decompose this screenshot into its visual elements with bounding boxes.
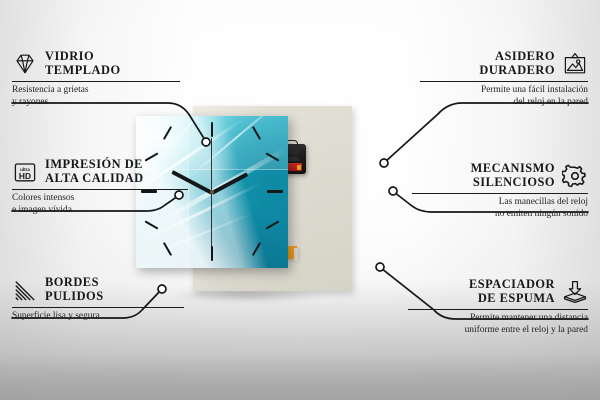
feature-title-line2: ALTA CALIDAD — [45, 172, 144, 186]
background-floor-edge — [0, 354, 600, 400]
mechanism-detail — [289, 149, 299, 154]
feature-desc-line1: Permite mantener una distancia — [408, 313, 588, 324]
feature-divider — [420, 81, 588, 82]
feature-title-line2: TEMPLADO — [45, 64, 121, 78]
infographic-canvas: VIDRIO TEMPLADO Resistencia a grietas y … — [0, 0, 600, 400]
feature-desc-line1: Las manecillas del reloj — [412, 197, 588, 208]
feature-title-line2: SILENCIOSO — [471, 176, 555, 190]
feature-divider — [412, 193, 588, 194]
feature-vidrio-templado[interactable]: VIDRIO TEMPLADO Resistencia a grietas y … — [12, 50, 180, 108]
feature-title-line1: ASIDERO — [479, 50, 555, 64]
feature-desc-line2: no emiten ningún sonido — [412, 209, 588, 220]
clock-second-hand — [211, 192, 212, 248]
feature-divider — [12, 189, 188, 190]
feature-asidero-duradero[interactable]: ASIDERO DURADERO Permite una fácil insta… — [420, 50, 588, 108]
feature-impresion-alta-calidad[interactable]: ultra HD IMPRESIÓN DE ALTA CALIDAD Color… — [12, 158, 188, 216]
feature-mecanismo-silencioso[interactable]: MECANISMO SILENCIOSO Las manecillas del … — [412, 162, 588, 220]
ultra-hd-icon-main-label: HD — [19, 170, 31, 180]
feature-desc-line1: Resistencia a grietas — [12, 85, 180, 96]
feature-desc-line1: Colores intensos — [12, 193, 188, 204]
feature-divider — [408, 309, 588, 310]
polished-edges-icon — [12, 278, 38, 302]
feature-bordes-pulidos[interactable]: BORDES PULIDOS Superficie lisa y segura — [12, 276, 184, 323]
feature-title-line2: PULIDOS — [45, 290, 104, 304]
feature-divider — [12, 307, 184, 308]
foam-spacer-arrow-icon — [562, 280, 588, 304]
feature-title-line1: ESPACIADOR — [469, 278, 555, 292]
feature-desc-line1: Permite una fácil instalación — [420, 85, 588, 96]
wall-hanging-frame-icon — [562, 52, 588, 76]
feature-desc-line2: del reloj en la pared — [420, 97, 588, 108]
feature-desc-line2: y rayones — [12, 97, 180, 108]
clock-tick — [211, 122, 213, 137]
feature-title-line1: IMPRESIÓN DE — [45, 158, 144, 172]
clock-second-hand — [211, 138, 212, 192]
feature-title-line2: DE ESPUMA — [469, 292, 555, 306]
feature-divider — [12, 81, 180, 82]
gear-icon — [562, 164, 588, 188]
feature-title-line1: MECANISMO — [471, 162, 555, 176]
clock-tick — [267, 190, 283, 193]
feature-desc-line2: e imagen vívida — [12, 205, 188, 216]
ultra-hd-icon: ultra HD — [12, 160, 38, 184]
feature-title-line1: BORDES — [45, 276, 104, 290]
mechanism-detail — [287, 157, 299, 161]
diamond-icon — [12, 52, 38, 76]
feature-title-line1: VIDRIO — [45, 50, 121, 64]
feature-title-line2: DURADERO — [479, 64, 555, 78]
feature-desc-line2: uniforme entre el reloj y la pared — [408, 325, 588, 336]
clock-tick — [211, 246, 213, 261]
feature-desc-line1: Superficie lisa y segura — [12, 311, 184, 322]
clock-center-pin — [210, 190, 214, 194]
feature-espaciador-de-espuma[interactable]: ESPACIADOR DE ESPUMA Permite mantener un… — [408, 278, 588, 336]
